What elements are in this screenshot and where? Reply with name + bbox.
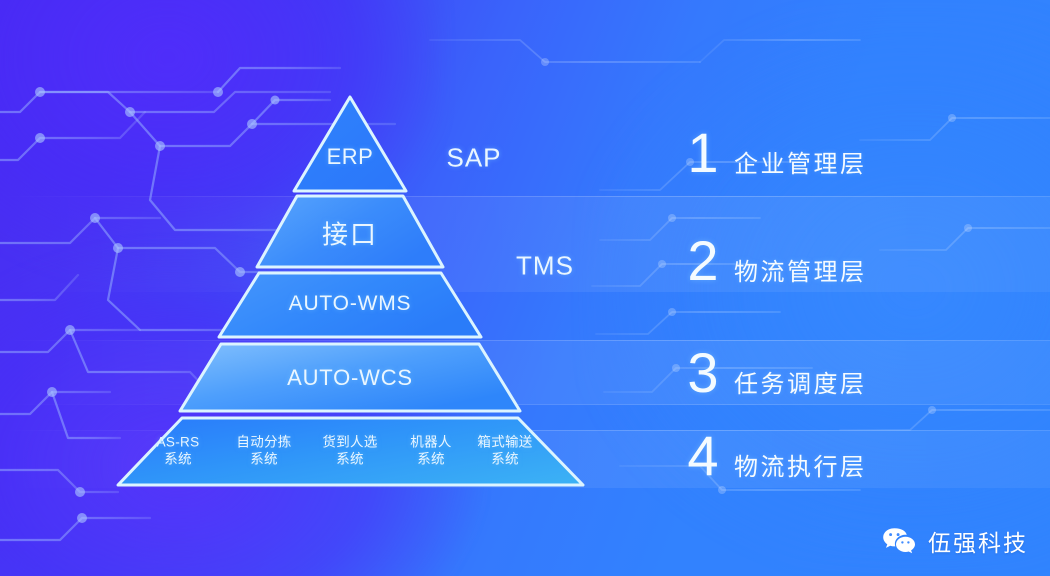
watermark-text: 伍强科技 — [928, 524, 1028, 558]
watermark: 伍强科技 — [882, 524, 1028, 558]
pyramid-layer-jiekou — [257, 196, 443, 267]
pyramid-layer-erp — [294, 97, 406, 191]
legend-label-1: 企业管理层 — [734, 144, 867, 179]
legend-number-4: 4 — [686, 428, 720, 484]
legend-number-1: 1 — [686, 125, 720, 181]
pyramid-layer-auto-wcs — [180, 344, 520, 411]
legend-row-1: 1 企业管理层 — [686, 125, 867, 181]
pyramid-layer-execution — [118, 418, 583, 485]
wechat-icon — [882, 527, 916, 555]
legend-row-2: 2 物流管理层 — [686, 233, 867, 289]
pyramid-diagram — [0, 0, 1050, 576]
legend-number-3: 3 — [686, 345, 720, 401]
legend-label-3: 任务调度层 — [734, 364, 867, 399]
slide-canvas: ERP 接口 AUTO-WMS AUTO-WCS AS-RS 系统 自动分拣 系… — [0, 0, 1050, 576]
legend-label-4: 物流执行层 — [734, 447, 867, 482]
pyramid-layer-auto-wms — [219, 273, 481, 337]
legend-row-4: 4 物流执行层 — [686, 428, 867, 484]
legend-label-2: 物流管理层 — [734, 252, 867, 287]
legend-number-2: 2 — [686, 233, 720, 289]
legend-row-3: 3 任务调度层 — [686, 345, 867, 401]
